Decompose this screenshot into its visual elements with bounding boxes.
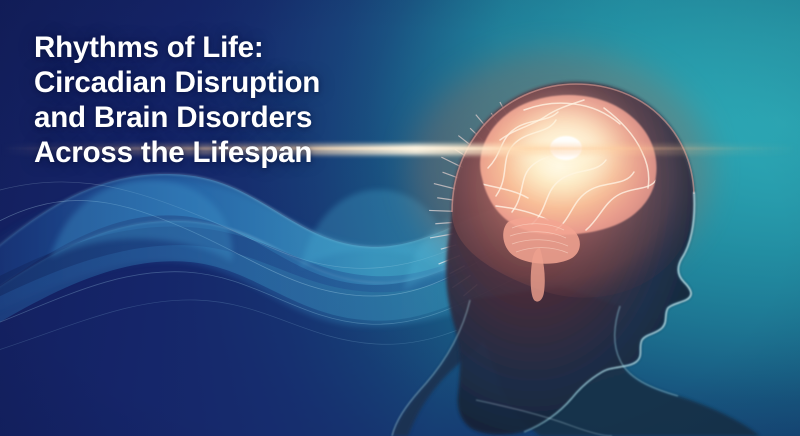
page-title: Rhythms of Life: Circadian Disruption an… — [34, 30, 394, 170]
banner-image: Rhythms of Life: Circadian Disruption an… — [0, 0, 800, 436]
